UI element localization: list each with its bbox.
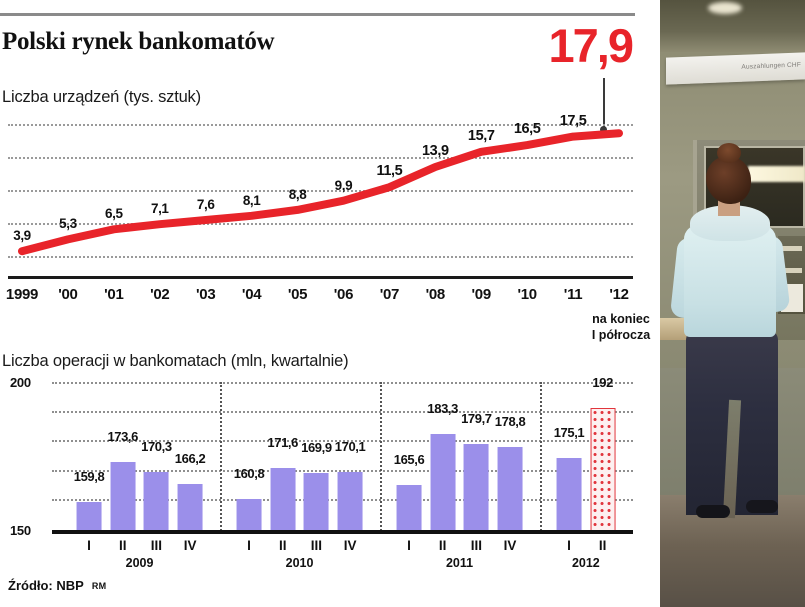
- line-value-label: 7,1: [151, 201, 169, 216]
- bar: [77, 502, 102, 531]
- bar: [557, 458, 582, 531]
- bar-value-label: 166,2: [175, 451, 206, 466]
- bar-chart-baseline: [52, 530, 633, 534]
- line-x-label: 1999: [6, 286, 38, 303]
- line-x-label: '11: [564, 286, 583, 303]
- bar: [178, 484, 203, 531]
- bar-value-label: 192: [592, 375, 613, 390]
- bar-year-label: 2009: [126, 556, 154, 570]
- line-x-label: '02: [150, 286, 169, 303]
- bar-quarter-label: II: [599, 538, 607, 553]
- bank-sign: Auszahlungen CHF: [666, 52, 805, 84]
- year-separator: [380, 382, 382, 534]
- bar-value-label: 171,6: [267, 435, 298, 450]
- bar-quarter-label: I: [407, 538, 411, 553]
- bar-value-label: 175,1: [554, 425, 585, 440]
- bar: [338, 472, 363, 531]
- header-rule: [0, 13, 635, 16]
- bar: [270, 468, 295, 531]
- bar-chart-year-labels: 2009201020112012: [8, 556, 633, 574]
- bar-quarter-label: IV: [344, 538, 357, 553]
- gridline: [52, 411, 633, 413]
- line-x-label: '06: [334, 286, 353, 303]
- bar-value-label: 169,9: [301, 440, 332, 455]
- bar: [304, 473, 329, 531]
- bar-quarter-label: II: [439, 538, 447, 553]
- highlight-value: 17,9: [549, 22, 632, 69]
- y-tick-bottom: 150: [10, 523, 31, 538]
- year-separator: [540, 382, 542, 534]
- line-value-label: 9,9: [335, 178, 353, 193]
- bar-quarter-label: I: [87, 538, 91, 553]
- bar-value-label: 173,6: [107, 429, 138, 444]
- bar: [237, 499, 262, 531]
- line-x-label: '09: [472, 286, 491, 303]
- bar-quarter-label: I: [567, 538, 571, 553]
- y-tick-top: 200: [10, 375, 31, 390]
- bar-quarter-label: I: [247, 538, 251, 553]
- line-x-label: '05: [288, 286, 307, 303]
- line-value-label: 16,5: [514, 121, 541, 137]
- annotation-line-2: I półrocza: [592, 328, 650, 344]
- line-chart-annotation: na koniecI półrocza: [592, 312, 650, 343]
- bar-quarter-label: IV: [504, 538, 517, 553]
- bar-year-label: 2012: [572, 556, 600, 570]
- person-torso: [684, 225, 776, 337]
- bar-value-label: 178,8: [495, 414, 526, 429]
- line-x-label: '00: [58, 286, 77, 303]
- atm-card-slot: [782, 246, 802, 251]
- source-label: Źródło: NBP: [8, 578, 84, 593]
- source-credit: RM: [92, 581, 107, 591]
- bank-sign-text: Auszahlungen CHF: [741, 61, 801, 70]
- line-value-label: 15,7: [468, 128, 495, 144]
- bar-year-label: 2011: [446, 556, 473, 570]
- line-x-label: '01: [104, 286, 123, 303]
- bar-quarter-label: IV: [184, 538, 197, 553]
- source-note: Źródło: NBPRM: [8, 578, 106, 593]
- ceiling-light: [708, 2, 742, 14]
- bar-value-label: 165,6: [394, 452, 425, 467]
- infographic-panel: Polski rynek bankomatów 17,9 Liczba urzą…: [0, 0, 660, 607]
- bar-chart: 200 150 159,8173,6170,3166,2160,8171,616…: [8, 382, 633, 534]
- bar-quarter-label: III: [471, 538, 482, 553]
- bar-quarter-label: II: [279, 538, 287, 553]
- line-value-label: 8,1: [243, 193, 261, 208]
- bar: [498, 447, 523, 531]
- bar-value-label: 159,8: [74, 469, 105, 484]
- bar-chart-title: Liczba operacji w bankomatach (mln, kwar…: [2, 352, 348, 371]
- bar-value-label: 160,8: [234, 466, 265, 481]
- bar-value-label: 170,1: [335, 439, 366, 454]
- page-title: Polski rynek bankomatów: [2, 28, 274, 56]
- bar-value-label: 179,7: [461, 411, 492, 426]
- line-x-label: '10: [517, 286, 536, 303]
- line-value-label: 13,9: [422, 143, 449, 159]
- bar-quarter-label: III: [151, 538, 162, 553]
- line-value-label: 6,5: [105, 206, 123, 221]
- line-value-label: 3,9: [13, 228, 31, 243]
- bar-quarter-label: II: [119, 538, 127, 553]
- line-chart-title: Liczba urządzeń (tys. sztuk): [2, 88, 201, 107]
- bar-year-label: 2010: [286, 556, 314, 570]
- bar-quarter-label: III: [311, 538, 322, 553]
- line-x-label: '07: [380, 286, 399, 303]
- line-x-label: '12: [609, 286, 628, 303]
- line-x-label: '04: [242, 286, 261, 303]
- person-right-shoe: [746, 500, 778, 513]
- line-value-label: 8,8: [289, 187, 307, 202]
- year-separator: [220, 382, 222, 534]
- person-hair: [706, 156, 751, 204]
- bar-value-label: 170,3: [141, 439, 172, 454]
- line-chart-axis: [8, 276, 633, 279]
- annotation-line-1: na koniec: [592, 312, 650, 328]
- bar: [144, 472, 169, 531]
- infographic-page: Polski rynek bankomatów 17,9 Liczba urzą…: [0, 0, 805, 607]
- bar-chart-x-labels: IIIIIIIVIIIIIIIVIIIIIIIVIII: [8, 538, 633, 556]
- person-left-shoe: [696, 505, 730, 518]
- person-hair-bun: [717, 143, 741, 163]
- bar-value-label: 183,3: [427, 401, 458, 416]
- line-chart-x-labels: 1999'00'01'02'03'04'05'06'07'08'09'10'11…: [8, 286, 633, 308]
- bar: [464, 444, 489, 531]
- line-x-label: '03: [196, 286, 215, 303]
- bar: [110, 462, 135, 531]
- line-chart: 3,95,36,57,17,68,18,89,911,513,915,716,5…: [8, 110, 633, 275]
- bar: [397, 485, 422, 531]
- atm-photo: Auszahlungen CHF: [660, 0, 805, 607]
- line-value-label: 17,5: [560, 113, 587, 129]
- line-value-label: 7,6: [197, 197, 215, 212]
- atm-screen-glare: [748, 166, 805, 182]
- bar: [430, 434, 455, 531]
- bar-plot-area: 159,8173,6170,3166,2160,8171,6169,9170,1…: [52, 382, 633, 534]
- bar-forecast: [590, 408, 615, 531]
- line-x-label: '08: [426, 286, 445, 303]
- gridline: [52, 382, 633, 384]
- line-value-label: 5,3: [59, 216, 77, 231]
- line-value-label: 11,5: [376, 163, 402, 179]
